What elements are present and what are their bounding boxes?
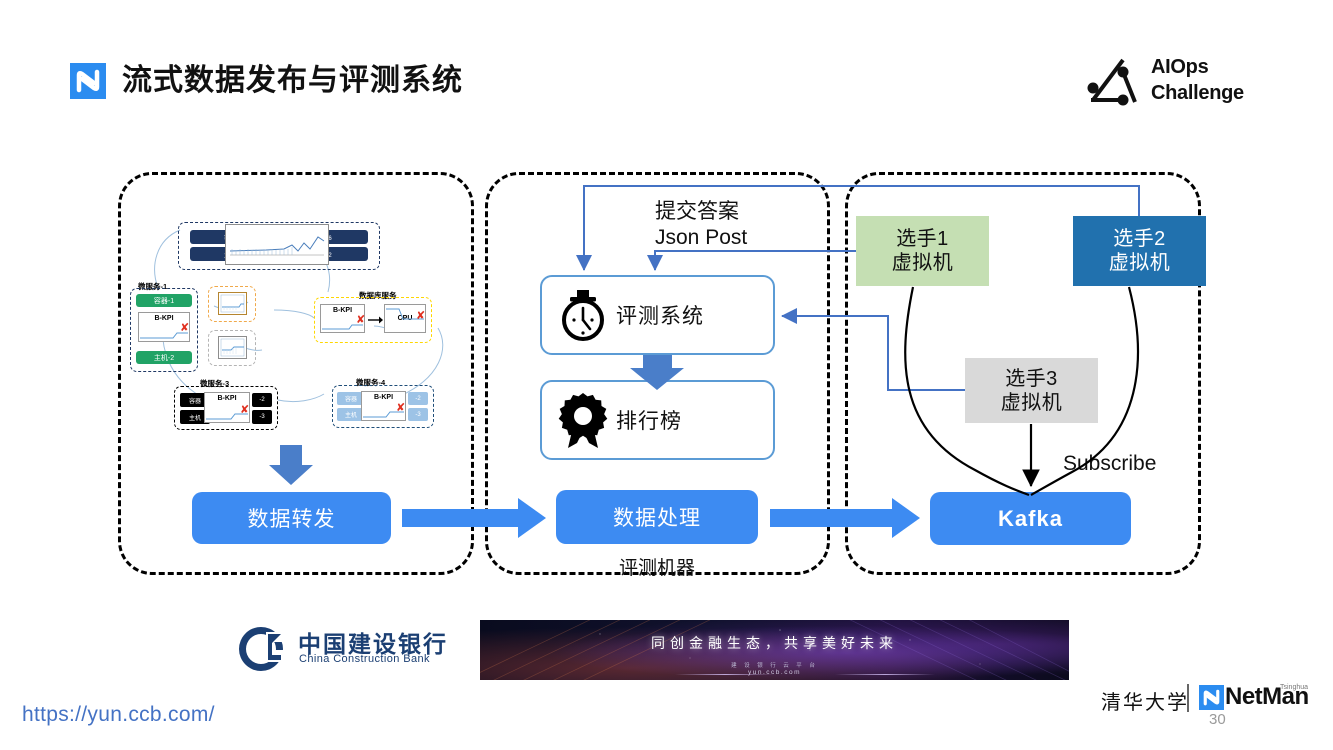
ccb-logo: 中国建设银行 China Construction Bank [232,622,457,677]
player2-line2: 虚拟机 [1109,251,1171,275]
microservice-topology-detail: 容器 主机 容器-6 主机-2 微服务-1 容器-1 B-KPI ✘ 主机-2 [128,218,468,468]
kafka-box[interactable]: Kafka [930,492,1131,545]
tsinghua-university-label: 清华大学 [1101,686,1189,715]
gray-group-chart [218,336,247,359]
aiops-brand-text: AIOps Challenge [1151,55,1244,106]
player2-vm-box[interactable]: 选手2 虚拟机 [1073,216,1206,286]
aiops-triangle-icon [1083,54,1145,110]
ms4-anomaly-icon: ✘ [396,402,405,413]
award-rosette-icon [550,391,616,449]
player2-line1: 选手2 [1113,227,1166,251]
ms3-right-label-1: -2 [252,393,272,407]
ccb-cloud-banner: 同创金融生态，共享美好未来 建 设 银 行 云 平 台 yun.ccb.com [480,620,1069,680]
netman-logo-icon-small [1199,685,1224,710]
netman-logo-icon [70,63,106,99]
db-arrow-icon [368,315,384,325]
ms3-anomaly-icon: ✘ [240,404,249,415]
brand-line-2: Challenge [1151,81,1244,107]
player3-line2: 虚拟机 [1001,391,1063,415]
submit-answer-label: 提交答案 Json Post [655,199,747,250]
db-cpu-anomaly-icon: ✘ [416,310,425,321]
top-group-chart [225,224,329,265]
ccb-name-en: China Construction Bank [299,653,430,665]
player1-line2: 虚拟机 [892,251,954,275]
page-number: 30 [1209,711,1226,728]
footer-divider [1187,684,1189,712]
ccb-mark-icon [232,624,290,674]
ms3-kpi-text: B-KPI [217,395,236,402]
page-title: 流式数据发布与评测系统 [122,55,463,99]
banner-sub-cn: 建 设 银 行 云 平 台 [480,661,1069,669]
leaderboard-card[interactable]: 排行榜 [540,380,775,460]
ms4-right-label-2: -3 [408,408,428,421]
data-process-box[interactable]: 数据处理 [556,490,758,544]
eval-system-label: 评测系统 [616,300,704,330]
db-kpi-text: B-KPI [333,307,352,314]
data-forward-box[interactable]: 数据转发 [192,492,391,544]
ms1-label-host: 主机-2 [136,351,192,364]
aiops-challenge-logo: AIOps Challenge [1083,52,1273,112]
footer-url-link[interactable]: https://yun.ccb.com/ [22,703,215,727]
banner-rule-left [675,674,775,675]
subscribe-label: Subscribe [1063,452,1156,476]
ms3-right-label-2: -3 [252,410,272,424]
footer-affiliations: 清华大学 NetMan Tsinghua 30 [1101,682,1311,730]
player3-line1: 选手3 [1005,367,1058,391]
db-kpi-anomaly-icon: ✘ [356,314,365,325]
player1-line1: 选手1 [896,227,949,251]
ms1-anomaly-icon: ✘ [180,322,189,333]
banner-rule-right [835,674,935,675]
ms1-kpi-text: B-KPI [154,315,173,322]
eval-machine-label: 评测机器 [556,553,758,580]
eval-system-card[interactable]: 评测系统 [540,275,775,355]
leaderboard-label: 排行榜 [616,405,682,435]
player1-vm-box[interactable]: 选手1 虚拟机 [856,216,989,286]
ms1-label-container: 容器-1 [136,294,192,307]
banner-slogan: 同创金融生态，共享美好未来 [480,633,1069,653]
orange-group-chart [218,292,247,315]
brand-line-1: AIOps [1151,55,1244,81]
netman-superscript: Tsinghua [1280,684,1308,691]
ms4-right-label-1: -2 [408,392,428,405]
player3-vm-box[interactable]: 选手3 虚拟机 [965,358,1098,423]
stopwatch-icon [550,287,616,343]
ms4-kpi-text: B-KPI [374,394,393,401]
